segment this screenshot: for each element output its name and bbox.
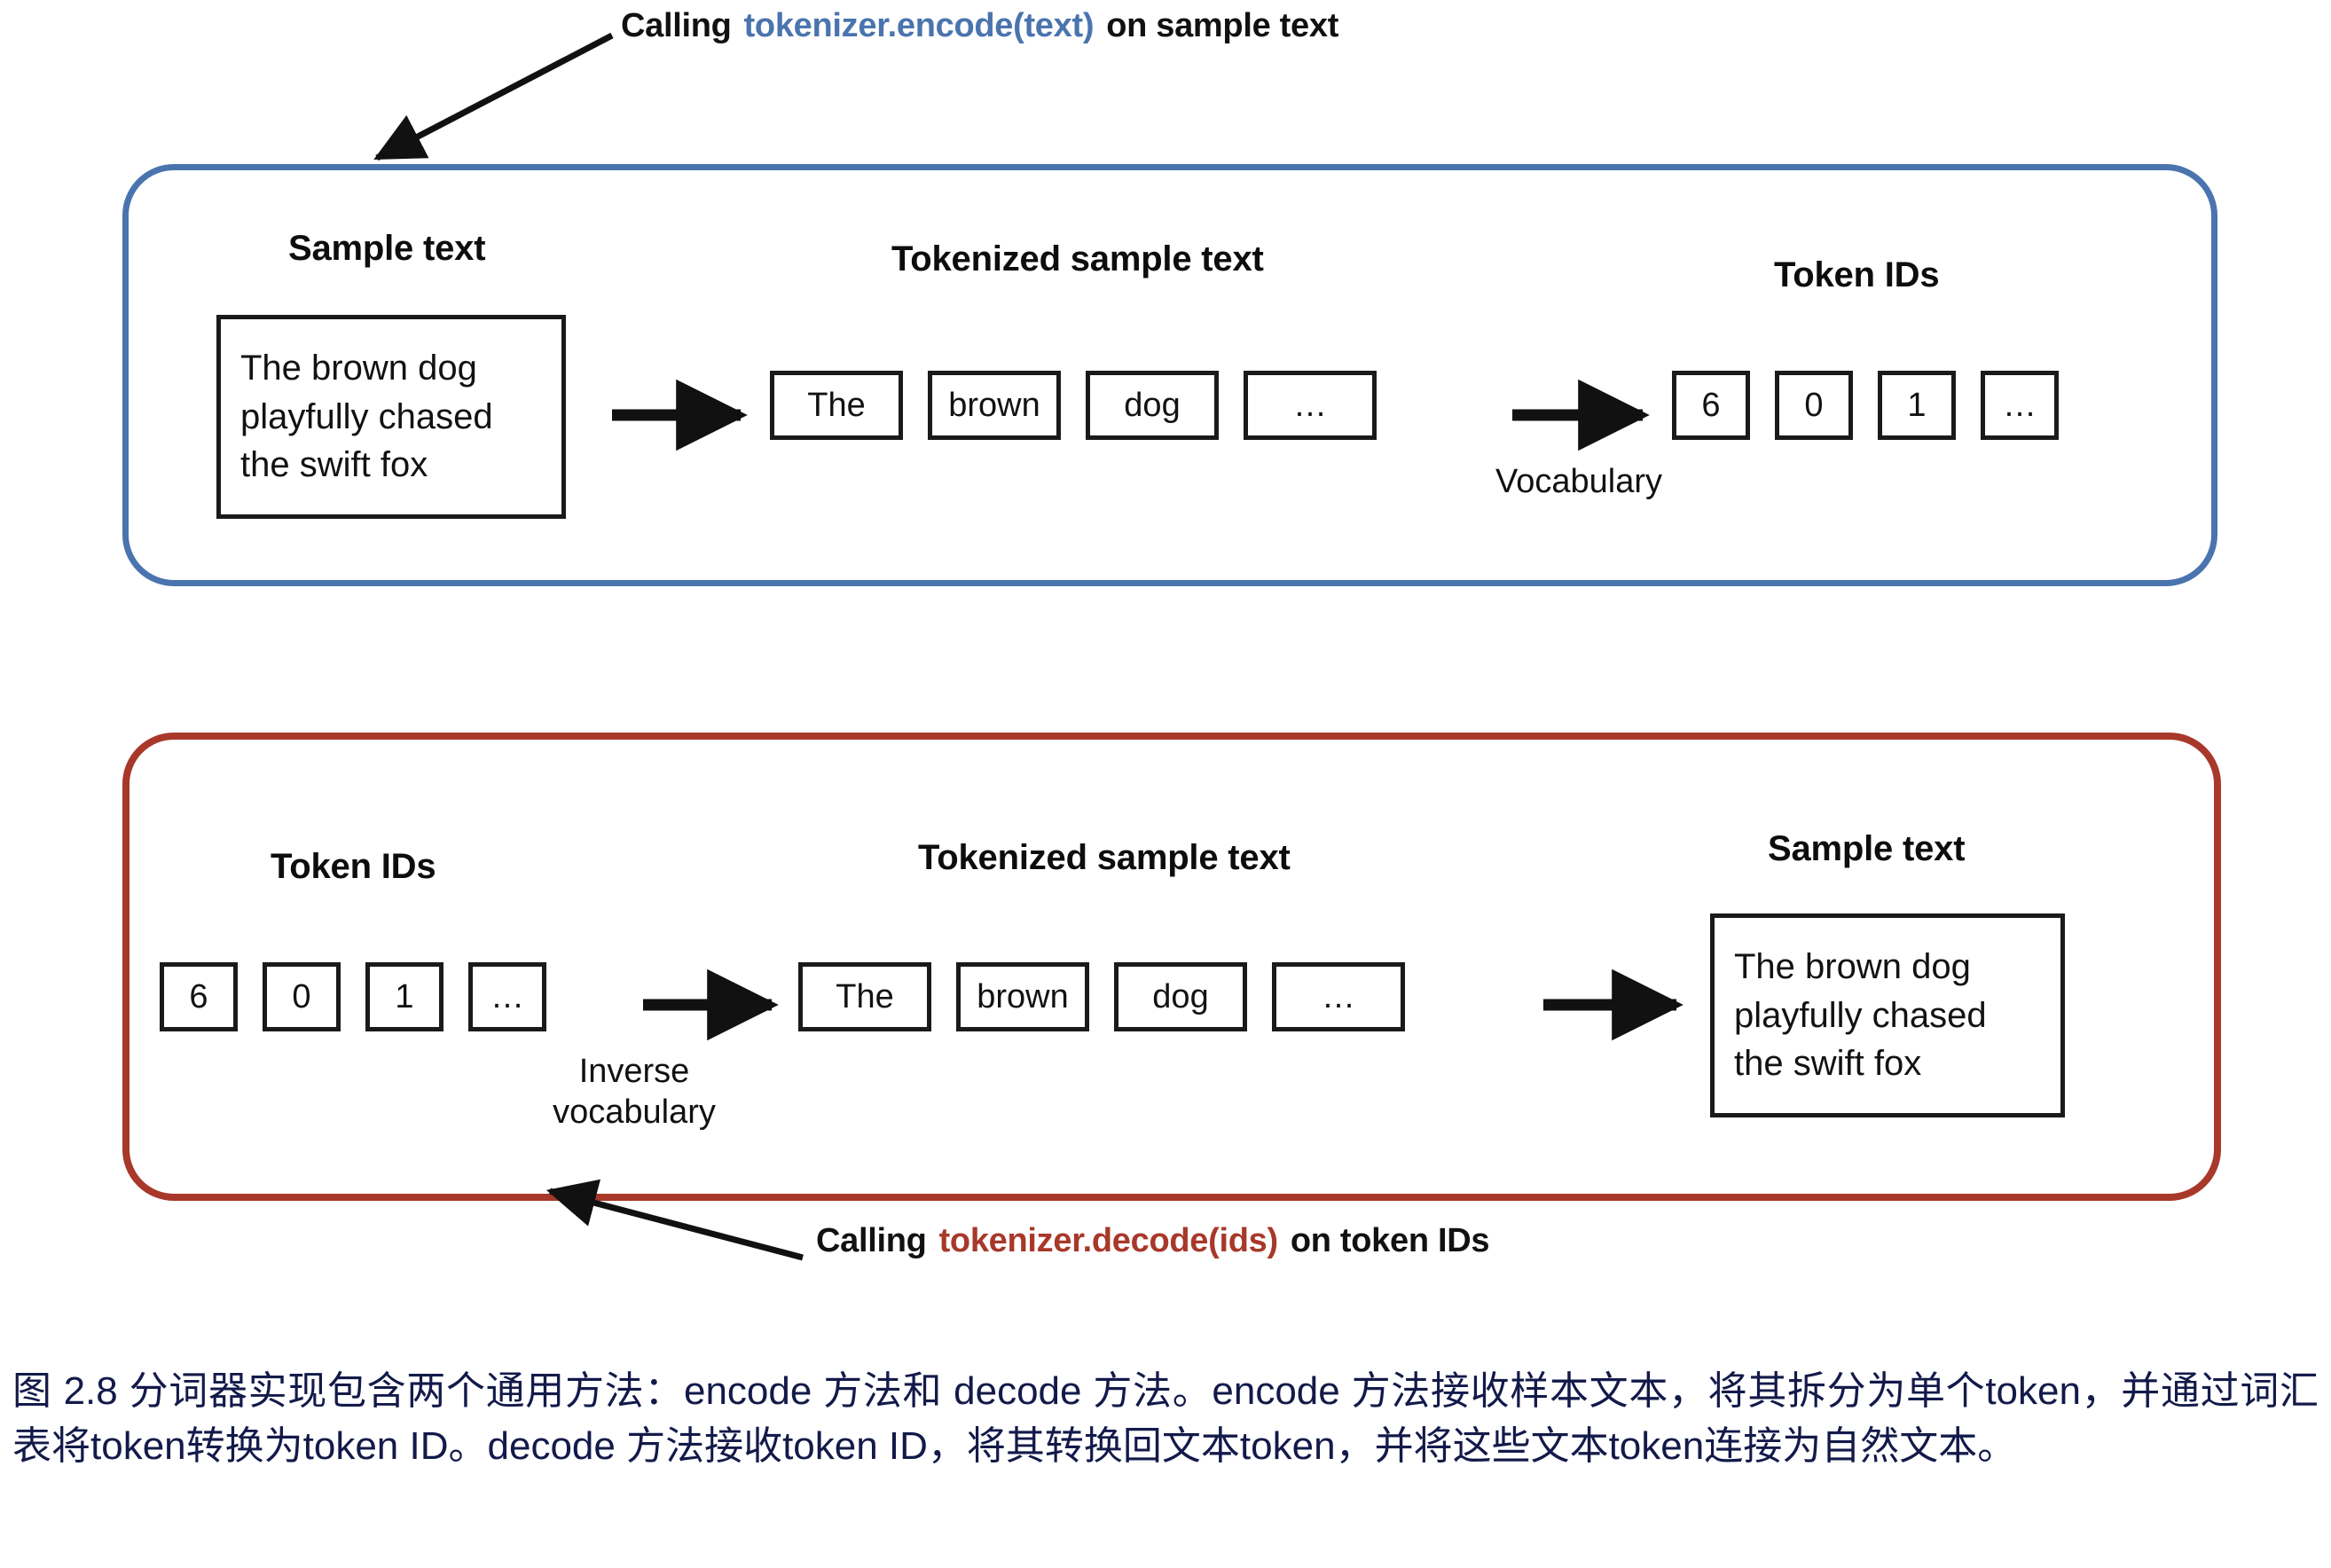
encode-token-id-chip-0: 6 <box>1672 371 1750 440</box>
decode-token-id-chip-0: 6 <box>160 962 238 1031</box>
vocabulary-label: Vocabulary <box>1455 461 1703 502</box>
decode-token-chip-3: … <box>1272 962 1405 1031</box>
decode-sample-text-value: The brown dog playfully chased the swift… <box>1715 943 2006 1087</box>
encode-token-id-chip-row: 601… <box>1672 371 2084 440</box>
encode-sample-text-box: The brown dog playfully chased the swift… <box>216 315 566 519</box>
encode-token-chip-1: brown <box>928 371 1061 440</box>
encode-token-ids-title: Token IDs <box>1774 255 1939 295</box>
decode-token-id-chip-2: 1 <box>365 962 443 1031</box>
decode-token-ids-title: Token IDs <box>271 847 436 887</box>
encode-token-id-chip-2: 1 <box>1878 371 1956 440</box>
decode-callout-prefix: Calling <box>816 1222 927 1259</box>
encode-callout-code: tokenizer.encode(text) <box>744 7 1095 44</box>
decode-callout-suffix: on token IDs <box>1291 1222 1489 1259</box>
encode-token-chip-0: The <box>770 371 903 440</box>
decode-token-id-chip-3: … <box>468 962 546 1031</box>
encode-callout-arrow <box>377 35 612 158</box>
decode-token-id-chip-row: 601… <box>160 962 571 1031</box>
decode-callout-code: tokenizer.decode(ids) <box>939 1222 1278 1259</box>
decode-callout-label: Callingtokenizer.decode(ids)on token IDs <box>816 1222 1489 1260</box>
encode-sample-text-value: The brown dog playfully chased the swift… <box>221 344 513 489</box>
encode-token-chip-3: … <box>1244 371 1377 440</box>
encode-sample-text-title: Sample text <box>288 229 485 269</box>
encode-tokenized-title: Tokenized sample text <box>891 239 1264 279</box>
decode-token-id-chip-1: 0 <box>263 962 341 1031</box>
encode-callout-prefix: Calling <box>621 7 732 44</box>
decode-sample-text-box: The brown dog playfully chased the swift… <box>1710 913 2065 1117</box>
decode-token-chip-1: brown <box>956 962 1089 1031</box>
decode-token-chip-row: Thebrowndog… <box>798 962 1430 1031</box>
encode-token-chip-2: dog <box>1086 371 1219 440</box>
encode-token-chip-row: Thebrowndog… <box>770 371 1401 440</box>
encode-callout-suffix: on sample text <box>1106 7 1338 44</box>
encode-callout-label: Callingtokenizer.encode(text)on sample t… <box>621 7 1338 45</box>
encode-token-id-chip-1: 0 <box>1775 371 1853 440</box>
decode-token-chip-2: dog <box>1114 962 1247 1031</box>
decode-token-chip-0: The <box>798 962 931 1031</box>
decode-tokenized-title: Tokenized sample text <box>918 838 1291 878</box>
figure-canvas: Callingtokenizer.encode(text)on sample t… <box>0 0 2331 1568</box>
figure-caption: 图 2.8 分词器实现包含两个通用方法：encode 方法和 decode 方法… <box>12 1364 2319 1475</box>
decode-callout-arrow <box>550 1191 803 1258</box>
inverse-vocabulary-label: Inverse vocabulary <box>483 1051 785 1133</box>
decode-sample-text-title: Sample text <box>1768 829 1965 869</box>
encode-token-id-chip-3: … <box>1981 371 2059 440</box>
